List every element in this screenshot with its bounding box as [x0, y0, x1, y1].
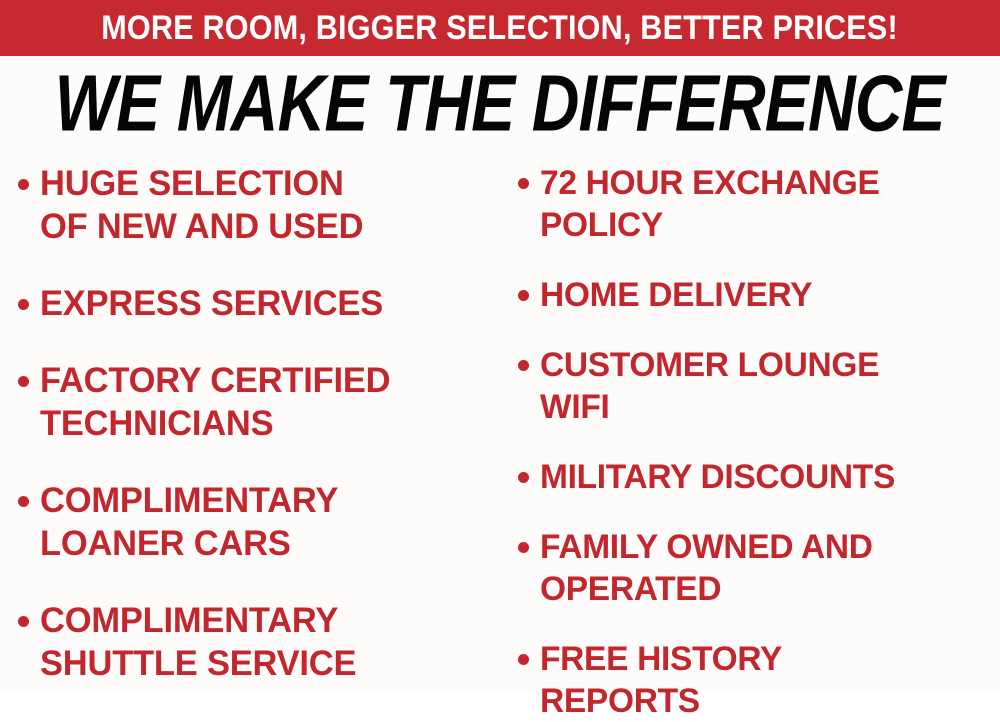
- list-item: COMPLIMENTARY SHUTTLE SERVICE: [18, 599, 492, 685]
- bullet-dot-icon: [518, 290, 529, 301]
- benefits-column-left: HUGE SELECTION OF NEW AND USED EXPRESS S…: [0, 150, 500, 685]
- list-item-label: COMPLIMENTARY SHUTTLE SERVICE: [40, 599, 485, 685]
- list-item-label: FACTORY CERTIFIED TECHNICIANS: [40, 359, 485, 445]
- list-item-label: CUSTOMER LOUNGE WIFI: [540, 344, 991, 428]
- page-title: WE MAKE THE DIFFERENCE: [55, 63, 945, 143]
- benefits-columns: HUGE SELECTION OF NEW AND USED EXPRESS S…: [0, 150, 1000, 694]
- top-banner: MORE ROOM, BIGGER SELECTION, BETTER PRIC…: [0, 0, 1000, 56]
- list-item-label: MILITARY DISCOUNTS: [540, 456, 991, 498]
- list-item-label: EXPRESS SERVICES: [40, 282, 485, 325]
- bullet-dot-icon: [18, 299, 29, 310]
- list-item-label: COMPLIMENTARY LOANER CARS: [40, 479, 485, 565]
- bullet-dot-icon: [18, 496, 29, 507]
- bullet-dot-icon: [518, 654, 529, 665]
- list-item: MILITARY DISCOUNTS: [518, 456, 998, 498]
- list-item: HUGE SELECTION OF NEW AND USED: [18, 162, 492, 248]
- list-item: HOME DELIVERY: [518, 274, 998, 316]
- benefits-column-right: 72 HOUR EXCHANGE POLICY HOME DELIVERY CU…: [500, 150, 1000, 722]
- bullet-dot-icon: [18, 616, 29, 627]
- list-item-label: FAMILY OWNED AND OPERATED: [540, 526, 991, 610]
- list-item: CUSTOMER LOUNGE WIFI: [518, 344, 998, 428]
- bullet-dot-icon: [518, 360, 529, 371]
- promotional-poster: MORE ROOM, BIGGER SELECTION, BETTER PRIC…: [0, 0, 1000, 694]
- banner-headline-text: MORE ROOM, BIGGER SELECTION, BETTER PRIC…: [102, 11, 899, 45]
- bullet-dot-icon: [518, 472, 529, 483]
- list-item-label: 72 HOUR EXCHANGE POLICY: [540, 162, 991, 246]
- list-item: EXPRESS SERVICES: [18, 282, 492, 325]
- list-item-label: HUGE SELECTION OF NEW AND USED: [40, 162, 485, 248]
- bullet-dot-icon: [518, 542, 529, 553]
- list-item-label: HOME DELIVERY: [540, 274, 991, 316]
- bullet-dot-icon: [18, 179, 29, 190]
- bullet-dot-icon: [518, 178, 529, 189]
- list-item: FAMILY OWNED AND OPERATED: [518, 526, 998, 610]
- list-item: COMPLIMENTARY LOANER CARS: [18, 479, 492, 565]
- list-item: FACTORY CERTIFIED TECHNICIANS: [18, 359, 492, 445]
- list-item: FREE HISTORY REPORTS: [518, 638, 998, 722]
- bullet-dot-icon: [18, 376, 29, 387]
- list-item-label: FREE HISTORY REPORTS: [540, 638, 991, 722]
- headline-container: WE MAKE THE DIFFERENCE: [0, 62, 1000, 144]
- list-item: 72 HOUR EXCHANGE POLICY: [518, 162, 998, 246]
